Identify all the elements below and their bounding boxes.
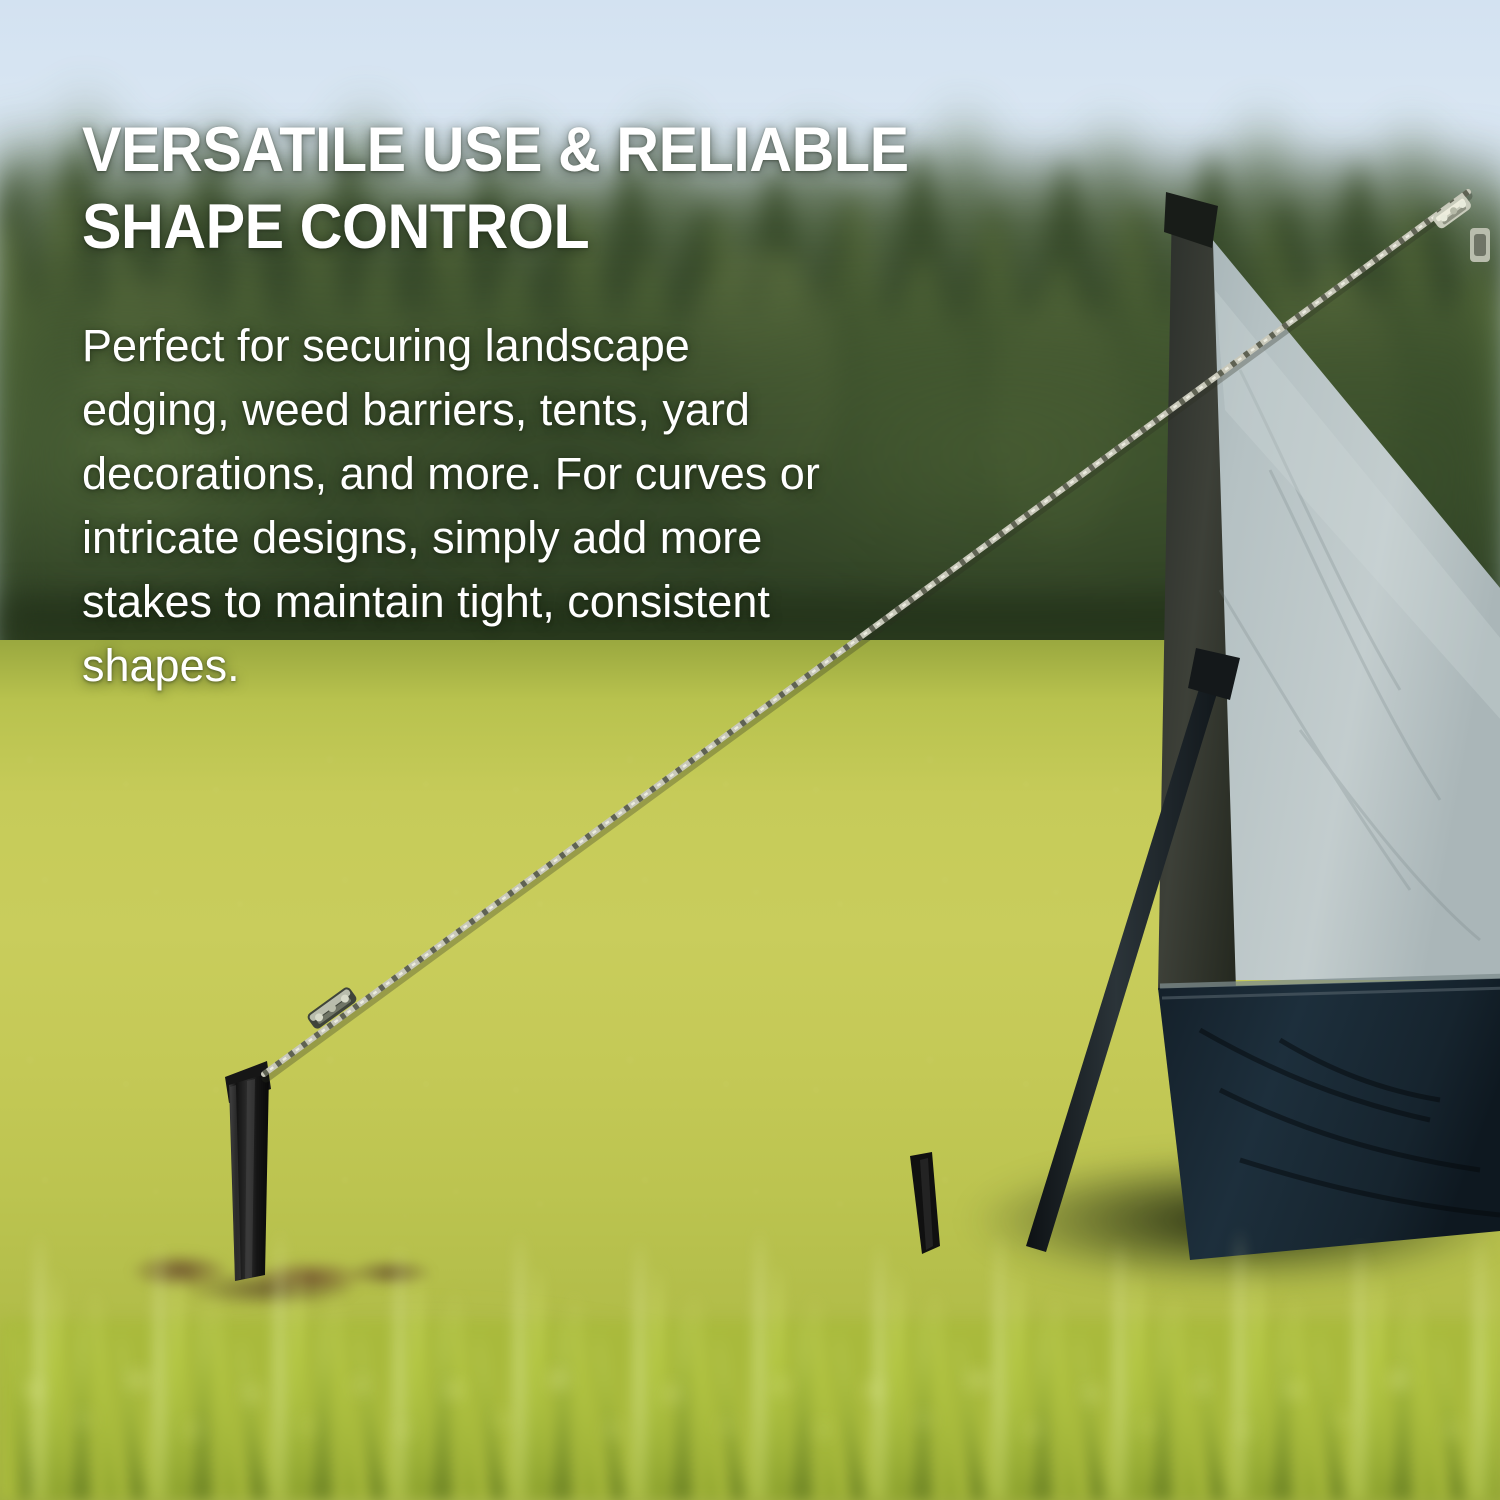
page-title: VERSATILE USE & RELIABLE SHAPE CONTROL: [82, 112, 966, 266]
body-paragraph: Perfect for securing landscape edging, w…: [82, 266, 842, 698]
foreground-grass: [0, 1170, 1500, 1500]
copy-block: VERSATILE USE & RELIABLE SHAPE CONTROL P…: [82, 112, 1022, 698]
product-lifestyle-banner: VERSATILE USE & RELIABLE SHAPE CONTROL P…: [0, 0, 1500, 1500]
tent-pole: [960, 640, 1280, 1260]
foreground-grass-bokeh: [0, 1270, 1500, 1500]
